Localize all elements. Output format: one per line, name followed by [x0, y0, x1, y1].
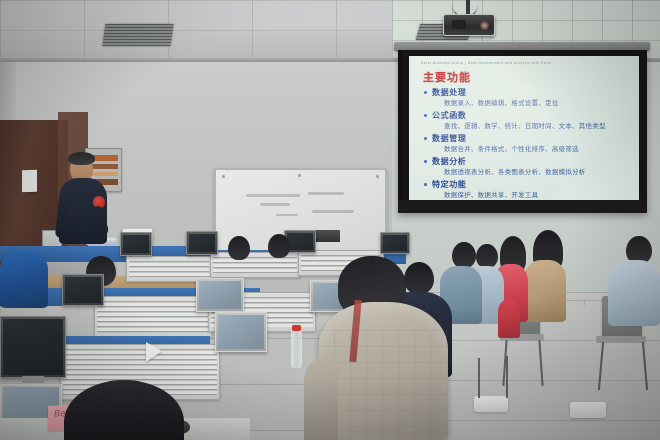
slide-section-detail: 数据透视表分析、各类图表分析、数据模拟分析 [423, 167, 629, 177]
attendee-torso [0, 252, 48, 308]
whiteboard-writing [276, 214, 298, 216]
slide-section-heading: 数据管理 [423, 133, 629, 144]
monitor-screen [287, 233, 313, 250]
cubicle-louvers [213, 257, 297, 273]
frame-stripe [89, 164, 118, 169]
monitor[interactable] [196, 278, 244, 312]
cubicle-louvers [129, 261, 209, 277]
slide-section-heading: 数据处理 [423, 87, 629, 98]
slide-section: 特定功能 数据保护、数据共享、开发工具 [423, 179, 629, 200]
monitor[interactable] [120, 232, 152, 256]
attendee-arm [304, 356, 338, 440]
monitor[interactable] [62, 274, 104, 306]
chair-leg [478, 358, 480, 398]
attendee-head [476, 244, 498, 268]
white-chair [570, 402, 606, 418]
projector-lens-icon [480, 21, 489, 30]
attendee-torso [608, 260, 660, 326]
cubicle-divider [210, 252, 300, 278]
desk-equipment [314, 230, 340, 242]
slide-section: 公式函数 查找、逻辑、数学、统计、日期时间、文本、其他类型 [423, 110, 629, 131]
attendee-torso [524, 260, 566, 322]
attendee-torso [498, 300, 520, 338]
whiteboard-writing [312, 210, 354, 213]
whiteboard-writing [308, 192, 344, 195]
monitor[interactable] [380, 232, 410, 254]
monitor-screen [123, 235, 149, 253]
monitor-screen [3, 319, 63, 375]
whiteboard-screw [298, 174, 301, 177]
whiteboard-writing [246, 194, 300, 197]
cubicle-louvers [97, 301, 209, 333]
monitor-screen [218, 315, 264, 349]
folded-paper [146, 342, 162, 362]
slide-section-detail: 数据合并、条件格式、个性化排序、高级筛选 [423, 144, 629, 154]
whiteboard-screw [376, 175, 379, 178]
whiteboard-writing [260, 203, 290, 206]
projection-screen-bottom-bar [398, 200, 647, 213]
wall-paper-note [22, 170, 37, 193]
white-chair [474, 396, 508, 412]
chair-leg [506, 356, 508, 398]
monitor[interactable] [0, 316, 66, 378]
whiteboard-screw [222, 175, 225, 178]
slide-section-heading: 特定功能 [423, 179, 629, 190]
attendee-head [452, 242, 476, 268]
monitor-screen [189, 234, 215, 252]
attendee-head [404, 262, 434, 294]
slide-section: 数据处理 数据录入、数据编辑、格式设置、定位 [423, 87, 629, 108]
attendee-head [228, 236, 250, 260]
monitor[interactable] [186, 231, 218, 255]
slide-section: 数据管理 数据合并、条件格式、个性化排序、高级筛选 [423, 133, 629, 154]
monitor[interactable] [215, 312, 267, 352]
slide-section-heading: 公式函数 [423, 110, 629, 121]
slide-section: 数据分析 数据透视表分析、各类图表分析、数据模拟分析 [423, 156, 629, 177]
monitor-screen [65, 277, 101, 303]
slide-header-line: Excel Business Group | Data Management a… [421, 61, 552, 65]
slide-section-heading: 数据分析 [423, 156, 629, 167]
projector-body-detail [452, 20, 466, 29]
ceiling-projector [443, 14, 495, 36]
projected-slide: Excel Business Group | Data Management a… [409, 56, 639, 206]
attendee-head [268, 234, 290, 258]
air-vent-icon [102, 24, 173, 46]
slide-section-detail: 数据保护、数据共享、开发工具 [423, 190, 629, 200]
monitor-screen [199, 281, 241, 309]
frame-stripe [89, 172, 118, 176]
cubicle-divider [94, 296, 212, 338]
classroom-photo: Excel Business Group | Data Management a… [0, 0, 660, 440]
slide-section-detail: 查找、逻辑、数学、统计、日期时间、文本、其他类型 [423, 121, 629, 131]
slide-body: 数据处理 数据录入、数据编辑、格式设置、定位 公式函数 查找、逻辑、数学、统计、… [423, 87, 629, 202]
projection-screen-edge [398, 50, 403, 213]
slide-title: 主要功能 [423, 69, 471, 85]
monitor-stand [22, 376, 44, 383]
water-bottle [291, 330, 302, 368]
slide-section-detail: 数据录入、数据编辑、格式设置、定位 [423, 98, 629, 108]
bottle-cap [292, 325, 301, 331]
monitor-screen [383, 235, 407, 251]
presenter-hair [68, 152, 95, 165]
